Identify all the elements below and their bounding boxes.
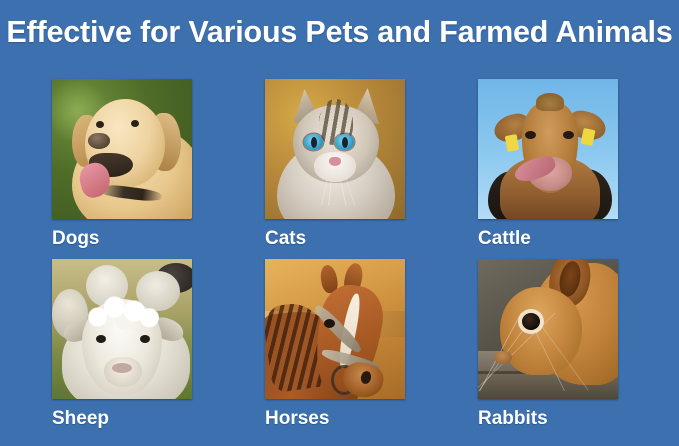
cattle-photo-background (478, 79, 618, 219)
dog-nose-shape (88, 133, 110, 149)
dog-photo (52, 79, 192, 219)
grid-item-label-cattle: Cattle (478, 228, 618, 250)
cattle-photo (478, 79, 618, 219)
dog-photo-background (52, 79, 192, 219)
sheep-eye-right-shape (140, 335, 150, 343)
cat-pupil-right (342, 137, 348, 148)
dog-eye-right-shape (131, 120, 139, 127)
cat-pupil-left (311, 137, 317, 148)
cattle-eye-right-shape (563, 131, 574, 139)
sheep-nose-shape (112, 363, 132, 373)
grid-item-cattle: Cattle (478, 79, 618, 250)
grid-item-label-dogs: Dogs (52, 228, 192, 250)
grid-item-label-horses: Horses (265, 408, 405, 430)
rabbit-photo-background (478, 259, 618, 399)
cattle-eye-left-shape (525, 131, 536, 139)
grid-item-label-sheep: Sheep (52, 408, 192, 430)
horse-photo (265, 259, 405, 399)
grid-item-rabbits: Rabbits (478, 259, 618, 430)
page-title: Effective for Various Pets and Farmed An… (0, 14, 679, 50)
cat-eye-right-shape (335, 134, 354, 150)
sheep-photo-background (52, 259, 192, 399)
rabbit-eye-shape (522, 313, 540, 330)
cat-eye-left-shape (304, 134, 323, 150)
grid-item-dogs: Dogs (52, 79, 192, 250)
grid-item-sheep: Sheep (52, 259, 192, 430)
cat-photo (265, 79, 405, 219)
pet-animals-poster: Effective for Various Pets and Farmed An… (0, 0, 679, 446)
rabbit-photo (478, 259, 618, 399)
cat-photo-background (265, 79, 405, 219)
sheep-photo (52, 259, 192, 399)
horse-eye-shape (324, 319, 335, 328)
sheep-eye-left-shape (96, 335, 106, 343)
animal-grid: Dogs (52, 79, 620, 431)
cattle-topknot-shape (536, 93, 564, 111)
grid-item-label-rabbits: Rabbits (478, 408, 618, 430)
cat-nose-shape (329, 157, 341, 166)
rabbit-nose-shape (494, 351, 512, 364)
cattle-ear-tag-left (505, 134, 520, 152)
dog-eye-left-shape (96, 121, 104, 128)
grid-item-horses: Horses (265, 259, 405, 430)
grid-item-cats: Cats (265, 79, 405, 250)
cattle-ear-tag-right (580, 128, 595, 146)
grid-item-label-cats: Cats (265, 228, 405, 250)
horse-photo-background (265, 259, 405, 399)
sheep-wool-texture (84, 293, 160, 333)
